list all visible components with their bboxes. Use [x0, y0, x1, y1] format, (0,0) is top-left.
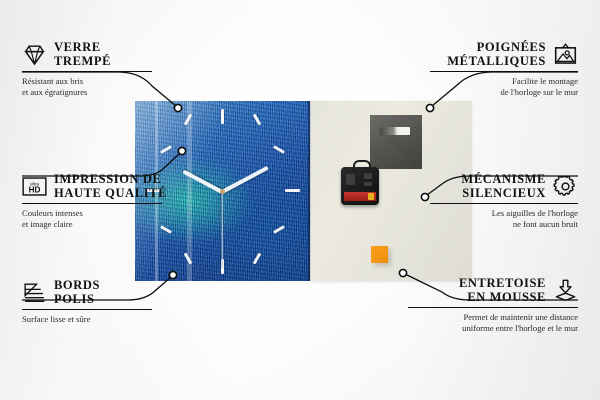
tick-6 [221, 259, 224, 274]
callout-title-line1: POIGNÉES [447, 40, 546, 54]
callout-title-line2: EN MOUSSE [459, 290, 546, 304]
callout-sub-line1: Surface lisse et sûre [22, 314, 162, 325]
tick-11 [184, 114, 193, 126]
hands-pin [220, 189, 225, 194]
callout-sub-line1: Les aiguilles de l'horloge [430, 208, 578, 219]
callout-sub-line1: Permet de maintenir une distance [408, 312, 578, 323]
callout-title-line2: HAUTE QUALITÉ [54, 186, 167, 200]
callout-sub-line1: Résistant aux bris [22, 76, 162, 87]
polished-edges-icon [22, 280, 47, 305]
mechanism-detail [364, 173, 372, 179]
callout-rule [430, 71, 578, 72]
callout-header: VERRE TREMPÉ [22, 40, 162, 68]
tick-10 [160, 145, 172, 154]
callout-sub-line2: uniforme entre l'horloge et le mur [408, 323, 578, 334]
ultra-hd-icon: ultra HD [22, 174, 47, 199]
callout-sub-line2: et image claire [22, 219, 167, 230]
callout-header: ENTRETOISE EN MOUSSE [408, 276, 578, 304]
callout-verre-trempe: VERRE TREMPÉ Résistant aux bris et aux é… [22, 40, 162, 97]
tick-2 [273, 145, 285, 154]
clock-mechanism [341, 167, 379, 205]
gear-icon [553, 174, 578, 199]
foam-spacer [371, 246, 388, 263]
callout-rule [22, 71, 152, 72]
callout-impression: ultra HD IMPRESSION DE HAUTE QUALITÉ Cou… [22, 172, 167, 229]
callout-header: POIGNÉES MÉTALLIQUES [430, 40, 578, 68]
hanger-slot [380, 127, 410, 135]
mechanism-detail [364, 182, 372, 186]
tick-3 [285, 189, 300, 192]
callout-sub-line2: de l'horloge sur le mur [430, 87, 578, 98]
callout-header: ultra HD IMPRESSION DE HAUTE QUALITÉ [22, 172, 167, 200]
callout-header: BORDS POLIS [22, 278, 162, 306]
press-down-icon [553, 278, 578, 303]
callout-mecanisme: MÉCANISME SILENCIEUX Les aiguilles de l'… [430, 172, 578, 229]
callout-title-line2: TREMPÉ [54, 54, 111, 68]
hour-hand [182, 170, 223, 194]
callout-rule [430, 203, 578, 204]
callout-sub-line2: et aux égratignures [22, 87, 162, 98]
tick-4 [273, 225, 285, 234]
minute-hand [221, 166, 269, 194]
callout-sub-line1: Facilite le montage [430, 76, 578, 87]
callout-rule [22, 203, 162, 204]
callout-title-line1: BORDS [54, 278, 100, 292]
callout-sub-line1: Couleurs intenses [22, 208, 167, 219]
callout-bords-polis: BORDS POLIS Surface lisse et sûre [22, 278, 162, 325]
callout-rule [22, 309, 152, 310]
callout-title-line2: MÉTALLIQUES [447, 54, 546, 68]
callout-title-line1: VERRE [54, 40, 111, 54]
tick-1 [253, 114, 262, 126]
infographic-canvas: VERRE TREMPÉ Résistant aux bris et aux é… [0, 0, 600, 400]
diamond-icon [22, 42, 47, 67]
tick-12 [221, 109, 224, 124]
product-image [135, 101, 472, 281]
hanger-plate [370, 115, 422, 169]
callout-entretoise: ENTRETOISE EN MOUSSE Permet de maintenir… [408, 276, 578, 333]
tick-7 [184, 253, 193, 265]
callout-title-line2: POLIS [54, 292, 100, 306]
second-hand [221, 192, 222, 268]
callout-title-line2: SILENCIEUX [461, 186, 546, 200]
callout-header: MÉCANISME SILENCIEUX [430, 172, 578, 200]
callout-poignees: POIGNÉES MÉTALLIQUES Facilite le montage… [430, 40, 578, 97]
mechanism-detail [346, 174, 355, 185]
picture-frame-icon [553, 42, 578, 67]
callout-title-line1: MÉCANISME [461, 172, 546, 186]
battery [344, 192, 376, 201]
svg-text:HD: HD [29, 185, 41, 194]
callout-rule [408, 307, 578, 308]
tick-5 [253, 253, 262, 265]
callout-title-line1: ENTRETOISE [459, 276, 546, 290]
callout-title-line1: IMPRESSION DE [54, 172, 167, 186]
callout-sub-line2: ne font aucun bruit [430, 219, 578, 230]
mechanism-hook [353, 160, 371, 171]
